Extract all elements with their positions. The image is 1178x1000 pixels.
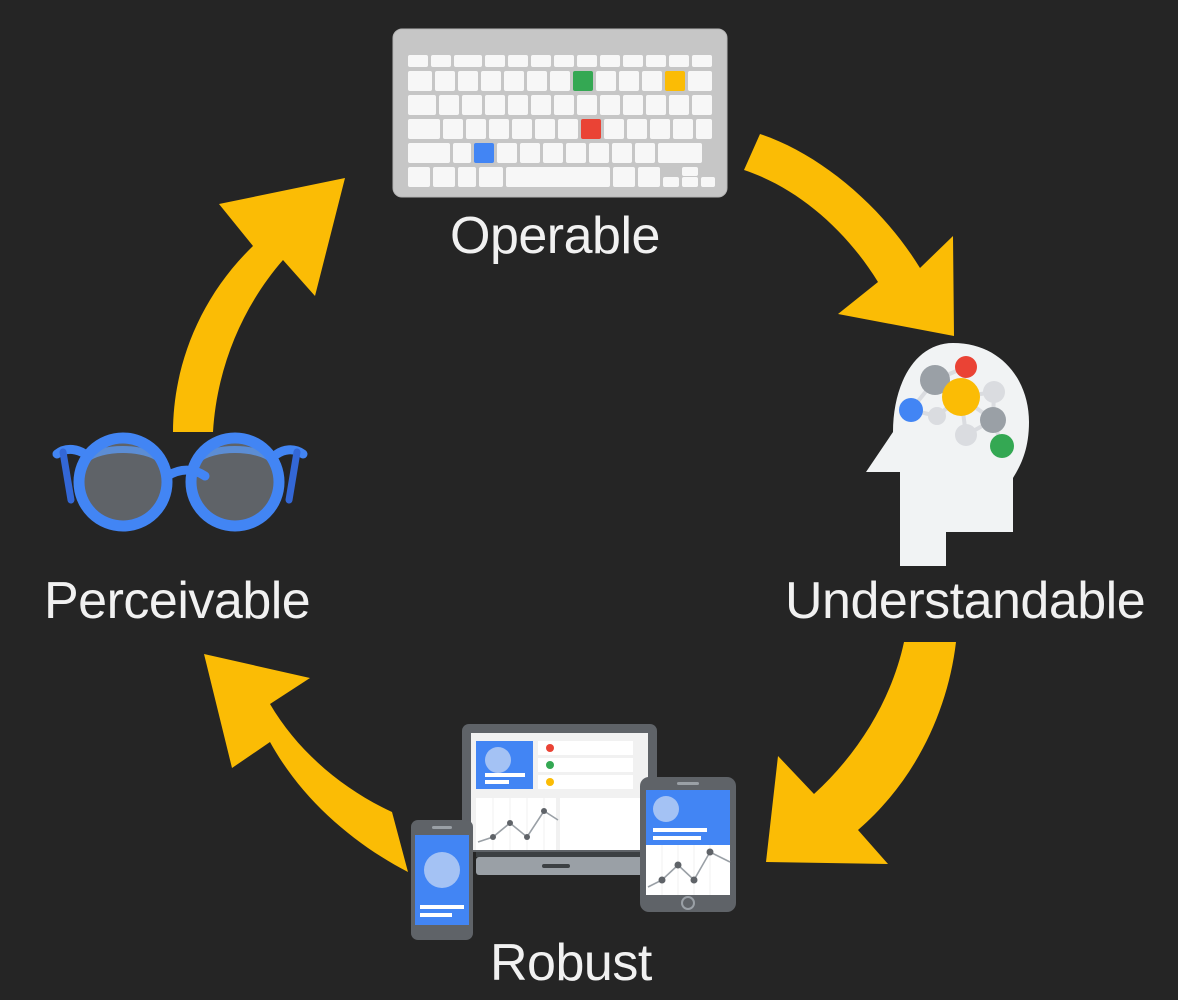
keyboard-key-blue [474, 143, 494, 163]
light-gray-node-3 [955, 424, 977, 446]
light-gray-node-2 [983, 381, 1005, 403]
keyboard-key-red [581, 119, 601, 139]
green-node [990, 434, 1014, 458]
glasses-icon [45, 420, 315, 550]
tablet-avatar [653, 796, 679, 822]
tablet-device [640, 777, 736, 912]
node-understandable [853, 340, 1053, 570]
keyboard-arrow-left [663, 177, 679, 187]
node-robust [400, 715, 760, 940]
diagram-canvas: Operable [0, 0, 1178, 1000]
blue-node [899, 398, 923, 422]
node-perceivable [45, 420, 315, 550]
laptop-device [462, 724, 657, 875]
arrow-understandable-to-robust [752, 640, 977, 870]
arrow-perceivable-to-operable [155, 160, 365, 435]
laptop-trackpad-notch [542, 864, 570, 868]
yellow-node [942, 378, 980, 416]
list-dot-yellow [546, 778, 554, 786]
label-understandable: Understandable [785, 575, 1145, 627]
keyboard-arrow-up [682, 167, 698, 176]
arrow-operable-to-understandable [742, 128, 972, 348]
keyboard-key-yellow [665, 71, 685, 91]
light-gray-node [928, 407, 946, 425]
laptop-list [538, 741, 633, 789]
phone-device [411, 820, 473, 940]
keyboard-key-green [573, 71, 593, 91]
phone-avatar [424, 852, 460, 888]
label-operable: Operable [450, 210, 660, 262]
keyboard-arrow-down [682, 177, 698, 187]
arrow-robust-to-perceivable [178, 636, 418, 876]
list-dot-green [546, 761, 554, 769]
label-perceivable: Perceivable [44, 575, 310, 627]
keyboard-arrow-right [701, 177, 715, 187]
list-dot-red [546, 744, 554, 752]
laptop-avatar [485, 747, 511, 773]
keyboard-icon [392, 28, 728, 198]
gray-node-2 [980, 407, 1006, 433]
keyboard-spacebar [506, 167, 610, 187]
red-node [955, 356, 977, 378]
multi-device-icon [400, 715, 760, 940]
node-operable [392, 28, 728, 198]
label-robust: Robust [490, 937, 652, 989]
head-brain-network-icon [853, 340, 1053, 570]
